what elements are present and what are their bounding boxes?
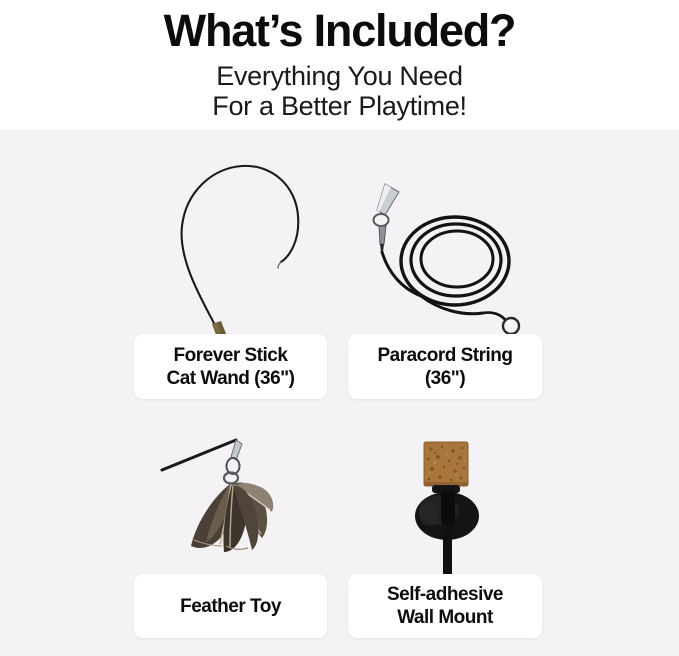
label-line-1: Self-adhesive xyxy=(387,584,503,605)
item-label-card-cat-wand[interactable]: Forever Stick Cat Wand (36") xyxy=(134,334,327,399)
label-line-1: Paracord String xyxy=(377,345,512,366)
cork-block xyxy=(424,442,468,486)
item-label-text: Self-adhesive Wall Mount xyxy=(381,583,509,629)
feather-toy-rod xyxy=(162,440,236,470)
page-title: What’s Included? xyxy=(0,2,679,57)
feather-toy-clip xyxy=(224,440,242,484)
wall-mount-svg xyxy=(385,428,525,588)
items-grid-background xyxy=(0,130,679,656)
cat-wand-svg xyxy=(150,150,330,340)
wall-mount-illustration xyxy=(385,428,525,588)
label-line-2: Cat Wand (36") xyxy=(167,368,295,389)
subtitle-line-1: Everything You Need xyxy=(0,61,679,91)
page-subtitle: Everything You Need For a Better Playtim… xyxy=(0,57,679,121)
paracord-coil-illustration xyxy=(355,168,540,343)
subtitle-line-2: For a Better Playtime! xyxy=(0,91,679,121)
wand-rod-tip xyxy=(278,262,281,268)
item-label-card-wall-mount[interactable]: Self-adhesive Wall Mount xyxy=(348,574,542,638)
label-line-2: Wall Mount xyxy=(397,607,493,628)
cat-wand-illustration xyxy=(150,150,330,340)
feather-toy-svg xyxy=(160,428,330,578)
item-label-text: Feather Toy xyxy=(174,595,287,618)
item-label-card-paracord[interactable]: Paracord String (36") xyxy=(348,334,542,399)
paracord-clip xyxy=(374,184,400,252)
paracord-cord xyxy=(382,217,509,322)
header-section: What’s Included? Everything You Need For… xyxy=(0,0,679,130)
item-label-text: Paracord String (36") xyxy=(371,344,518,390)
paracord-end-ring xyxy=(503,318,519,334)
label-line-1: Feather Toy xyxy=(180,596,281,617)
feather-toy-illustration xyxy=(160,428,330,578)
paracord-svg xyxy=(355,168,540,343)
label-line-1: Forever Stick xyxy=(174,345,288,366)
wand-rod xyxy=(182,166,299,327)
product-infographic: What’s Included? Everything You Need For… xyxy=(0,0,679,656)
item-label-text: Forever Stick Cat Wand (36") xyxy=(161,344,301,390)
label-line-2: (36") xyxy=(425,368,465,389)
feather-cluster xyxy=(191,482,273,552)
item-label-card-feather-toy[interactable]: Feather Toy xyxy=(134,574,327,638)
